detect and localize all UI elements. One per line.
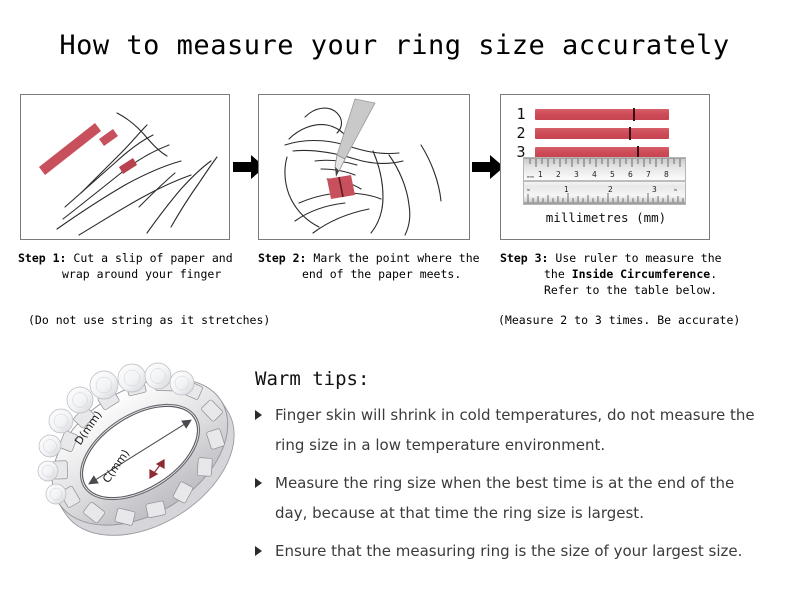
measured-strip-2: 2 (513, 124, 669, 142)
strip-mark-1 (633, 108, 635, 121)
step-3-note: (Measure 2 to 3 times. Be accurate) (498, 313, 740, 327)
svg-text:4: 4 (592, 170, 597, 179)
svg-text:mm: mm (527, 175, 535, 179)
step-3-line3: Refer to the table below. (500, 282, 750, 298)
step-1-label: Step 1: (18, 251, 66, 265)
step-2-line2: end of the paper meets. (258, 266, 488, 282)
step-3-line2-pre: the (544, 267, 572, 281)
warm-tip-text: Measure the ring size when the best time… (275, 474, 734, 522)
warm-tip-item: Finger skin will shrink in cold temperat… (255, 400, 755, 460)
step-2-caption: Step 2: Mark the point where the end of … (258, 250, 488, 282)
step-2-line1: Mark the point where the (313, 251, 479, 265)
triangle-bullet-icon (255, 410, 262, 420)
svg-text:2: 2 (556, 170, 561, 179)
svg-text:1: 1 (564, 185, 569, 194)
svg-text:7: 7 (646, 170, 651, 179)
svg-text:in: in (674, 188, 677, 192)
infographic-page: How to measure your ring size accurately (0, 0, 789, 606)
paper-strip-loose (39, 123, 101, 175)
svg-text:5: 5 (610, 170, 615, 179)
ring-diagram (28, 352, 253, 552)
warm-tip-item: Ensure that the measuring ring is the si… (255, 536, 755, 566)
ruler: mm 123 456 78 in 123 in (523, 157, 686, 205)
diamond-eternity-ring-illustration (28, 352, 253, 552)
step-1-note: (Do not use string as it stretches) (28, 313, 270, 327)
triangle-bullet-icon (255, 546, 262, 556)
strip-mark-2 (629, 127, 631, 140)
svg-text:1: 1 (538, 170, 543, 179)
warm-tip-text: Finger skin will shrink in cold temperat… (275, 406, 755, 454)
ruler-unit-caption: millimetres (mm) (501, 210, 710, 225)
paper-strip-wrapped (99, 129, 137, 174)
step-3-line2: the Inside Circumference. (500, 266, 750, 282)
svg-text:2: 2 (608, 185, 613, 194)
step-3-label: Step 3: (500, 251, 548, 265)
warm-tip-text: Ensure that the measuring ring is the si… (275, 542, 742, 560)
hand-marking-strip-illustration (259, 95, 468, 238)
warm-tips-list: Finger skin will shrink in cold temperat… (255, 400, 755, 574)
strip-bar-2 (535, 128, 669, 139)
strip-bar-1 (535, 109, 669, 120)
step-3-caption: Step 3: Use ruler to measure the the Ins… (500, 250, 750, 298)
inside-circumference-emphasis: Inside Circumference (572, 267, 710, 281)
strip-number-2: 2 (513, 124, 529, 142)
step-1-line1: Cut a slip of paper and (73, 251, 232, 265)
step-2-label: Step 2: (258, 251, 306, 265)
svg-text:6: 6 (628, 170, 633, 179)
triangle-bullet-icon (255, 478, 262, 488)
page-title: How to measure your ring size accurately (0, 30, 789, 61)
warm-tip-item: Measure the ring size when the best time… (255, 468, 755, 528)
svg-text:in: in (527, 188, 530, 192)
step-3-panel: 1 2 3 (500, 94, 710, 240)
step-3-line1: Use ruler to measure the (555, 251, 721, 265)
paper-strip-on-finger (327, 175, 355, 199)
step-1-line2: wrap around your finger (18, 266, 248, 282)
hand-with-paper-strip-illustration (21, 95, 228, 238)
svg-text:3: 3 (652, 185, 657, 194)
step-3-line2-post: . (710, 267, 717, 281)
measured-strip-1: 1 (513, 105, 669, 123)
svg-text:3: 3 (574, 170, 579, 179)
warm-tips-heading: Warm tips: (255, 368, 369, 390)
pen (335, 99, 375, 177)
step-1-caption: Step 1: Cut a slip of paper and wrap aro… (18, 250, 248, 282)
step-1-panel (20, 94, 230, 240)
svg-text:8: 8 (664, 170, 669, 179)
step-2-panel (258, 94, 470, 240)
strip-bar-3 (535, 147, 669, 158)
strip-number-1: 1 (513, 105, 529, 123)
